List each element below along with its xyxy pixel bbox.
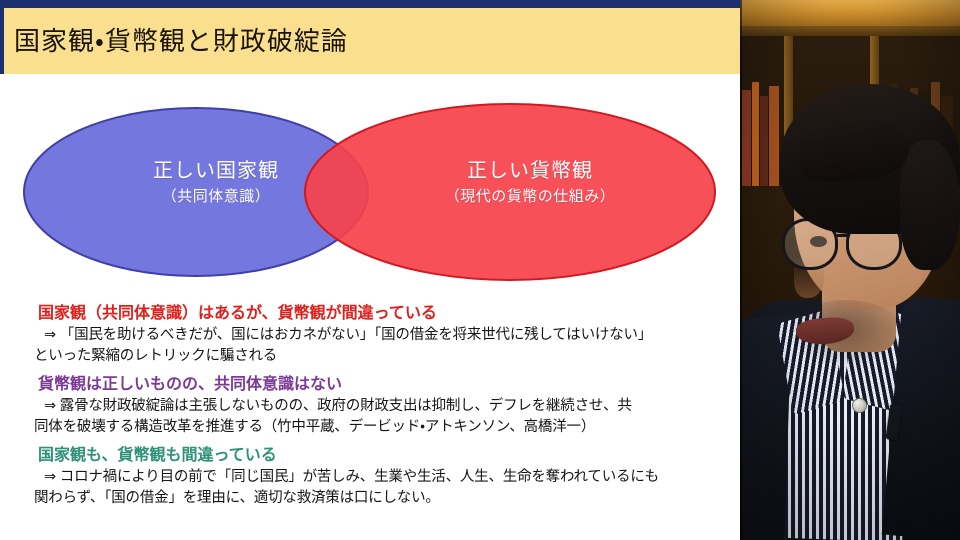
paragraph-heading-2: 貨幣観は正しいものの、共同体意識はない (0, 374, 740, 396)
paragraph-body-2-line-2: 同体を破壊する構造改革を推進する（竹中平蔵、デービッド・アトキンソン、高橋洋一） (34, 417, 728, 438)
page-title: 国家観・貨幣観と財政破綻論 (14, 17, 348, 65)
video-vignette (740, 0, 960, 540)
paragraph-heading-3: 国家観も、貨幣観も間違っている (0, 445, 740, 467)
paragraph-block-2: 貨幣観は正しいものの、共同体意識はない ⇒ 露骨な財政破綻論は主張しないものの、… (0, 374, 740, 438)
top-navy-rule (0, 0, 740, 8)
paragraph-body-1-line-1: ⇒ 「国民を助けるべきだが、国にはおカネがない」「国の借金を将来世代に残してはい… (34, 325, 728, 346)
paragraph-body-1: ⇒ 「国民を助けるべきだが、国にはおカネがない」「国の借金を将来世代に残してはい… (0, 325, 740, 367)
paragraph-body-3-line-1: ⇒ コロナ禍により目の前で「同じ国民」が苦しみ、生業や生活、人生、生命を奪われて… (34, 467, 728, 488)
paragraph-body-3: ⇒ コロナ禍により目の前で「同じ国民」が苦しみ、生業や生活、人生、生命を奪われて… (0, 467, 740, 509)
paragraph-block-1: 国家観（共同体意識）はあるが、貨幣観が間違っている ⇒ 「国民を助けるべきだが、… (0, 303, 740, 367)
presentation-slide: 国家観・貨幣観と財政破綻論 正しい国家観 （共同体意識） 正しい貨幣観 （現代の… (0, 0, 740, 540)
venn-diagram: 正しい国家観 （共同体意識） 正しい貨幣観 （現代の貨幣の仕組み） (0, 96, 740, 296)
paragraph-heading-1: 国家観（共同体意識）はあるが、貨幣観が間違っている (0, 303, 740, 325)
video-left-edge (740, 0, 742, 540)
paragraph-body-2: ⇒ 露骨な財政破綻論は主張しないものの、政府の財政支出は抑制し、デフレを継続させ… (0, 396, 740, 438)
body-text-blocks: 国家観（共同体意識）はあるが、貨幣観が間違っている ⇒ 「国民を助けるべきだが、… (0, 303, 740, 516)
paragraph-block-3: 国家観も、貨幣観も間違っている ⇒ コロナ禍により目の前で「同じ国民」が苦しみ、… (0, 445, 740, 509)
venn-ellipse-right (305, 104, 715, 280)
paragraph-body-2-line-1: ⇒ 露骨な財政破綻論は主張しないものの、政府の財政支出は抑制し、デフレを継続させ… (34, 396, 728, 417)
slide-screenshot: 国家観・貨幣観と財政破綻論 正しい国家観 （共同体意識） 正しい貨幣観 （現代の… (0, 0, 960, 540)
paragraph-body-3-line-2: 関わらず、「国の借金」を理由に、適切な救済策は口にしない。 (34, 488, 728, 509)
venn-svg (0, 96, 740, 296)
paragraph-body-1-line-2: といった緊縮のレトリックに騙される (34, 346, 728, 367)
speaker-video-inset (740, 0, 960, 540)
